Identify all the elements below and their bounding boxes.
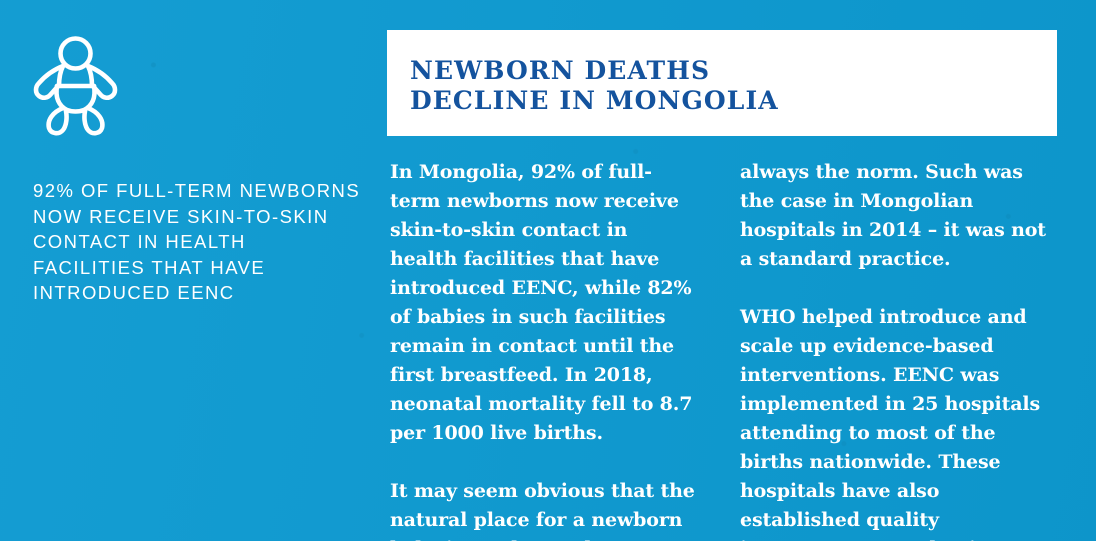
sidebar: 92% OF FULL-TERM NEWBORNS NOW RECEIVE SK… xyxy=(33,36,363,306)
sidebar-headline: 92% OF FULL-TERM NEWBORNS NOW RECEIVE SK… xyxy=(33,178,363,306)
paragraph: always the norm. Such was the case in Mo… xyxy=(740,158,1046,274)
paragraph: It may seem obvious that the natural pla… xyxy=(390,477,696,541)
body-columns: In Mongolia, 92% of full-term newborns n… xyxy=(390,158,1058,541)
page-title: NEWBORN DEATHS DECLINE IN MONGOLIA xyxy=(410,56,840,116)
baby-icon xyxy=(33,36,118,136)
paragraph: In Mongolia, 92% of full-term newborns n… xyxy=(390,158,696,448)
body-column-right: always the norm. Such was the case in Mo… xyxy=(740,158,1046,541)
paragraph: WHO helped introduce and scale up eviden… xyxy=(740,303,1046,541)
title-card: NEWBORN DEATHS DECLINE IN MONGOLIA xyxy=(387,30,1057,136)
body-column-left: In Mongolia, 92% of full-term newborns n… xyxy=(390,158,696,541)
